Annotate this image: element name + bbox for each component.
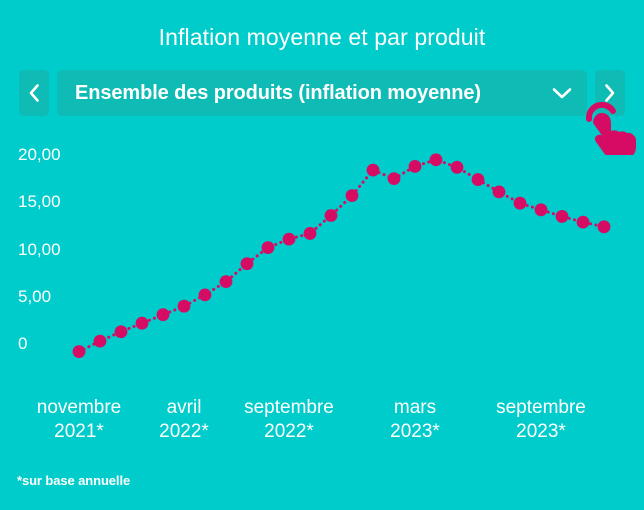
x-axis-tick-month: septembre xyxy=(456,396,626,420)
chart-area: 20,0015,0010,005,000 xyxy=(0,130,644,380)
data-point[interactable] xyxy=(325,209,338,222)
data-point[interactable] xyxy=(157,308,170,321)
data-point[interactable] xyxy=(451,161,464,174)
data-point[interactable] xyxy=(556,210,569,223)
data-point[interactable] xyxy=(493,185,506,198)
data-point[interactable] xyxy=(535,203,548,216)
data-point[interactable] xyxy=(262,241,275,254)
product-select-value: Ensemble des produits (inflation moyenne… xyxy=(75,82,541,105)
chevron-right-icon xyxy=(604,83,616,103)
x-axis-tick: septembre2023* xyxy=(456,396,626,445)
data-point[interactable] xyxy=(199,288,212,301)
next-product-button[interactable] xyxy=(595,70,625,116)
data-point[interactable] xyxy=(409,160,422,173)
chevron-down-icon[interactable] xyxy=(551,86,573,100)
data-point[interactable] xyxy=(472,173,485,186)
data-point[interactable] xyxy=(94,335,107,348)
inflation-chart-page: Inflation moyenne et par produit Ensembl… xyxy=(0,0,644,510)
page-title: Inflation moyenne et par produit xyxy=(0,24,644,51)
data-point[interactable] xyxy=(73,345,86,358)
data-point[interactable] xyxy=(367,164,380,177)
data-point[interactable] xyxy=(388,172,401,185)
series-line xyxy=(79,160,604,352)
line-plot xyxy=(0,130,644,380)
data-point[interactable] xyxy=(283,233,296,246)
footnote-text: *sur base annuelle xyxy=(17,473,130,488)
product-select[interactable]: Ensemble des produits (inflation moyenne… xyxy=(57,70,587,116)
data-point[interactable] xyxy=(577,216,590,229)
data-point[interactable] xyxy=(514,197,527,210)
data-point[interactable] xyxy=(430,153,443,166)
product-selector-row: Ensemble des produits (inflation moyenne… xyxy=(19,70,625,116)
data-point[interactable] xyxy=(136,317,149,330)
x-axis-tick-year: 2023* xyxy=(456,420,626,444)
data-point[interactable] xyxy=(220,275,233,288)
x-axis-labels: novembre2021*avril2022*septembre2022*mar… xyxy=(0,396,644,458)
data-point[interactable] xyxy=(598,220,611,233)
chevron-left-icon xyxy=(28,83,40,103)
data-point[interactable] xyxy=(178,300,191,313)
data-point[interactable] xyxy=(304,227,317,240)
previous-product-button[interactable] xyxy=(19,70,49,116)
data-point[interactable] xyxy=(346,189,359,202)
data-point[interactable] xyxy=(115,325,128,338)
data-point[interactable] xyxy=(241,257,254,270)
